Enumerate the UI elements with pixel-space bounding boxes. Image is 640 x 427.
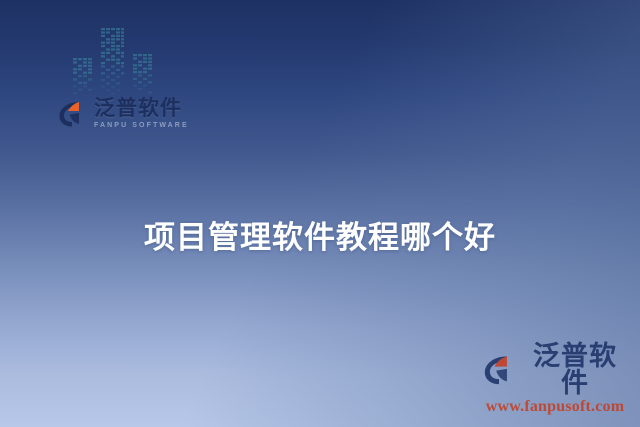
watermark: 泛普软件 www.fanpusoft.com [482,343,628,415]
brand-name-en: FANPU SOFTWARE [94,122,189,129]
promo-banner: 泛普软件 FANPU SOFTWARE 项目管理软件教程哪个好 泛普软件 www… [0,0,640,427]
page-title: 项目管理软件教程哪个好 [0,219,640,258]
brand-text-block: 泛普软件 FANPU SOFTWARE [94,98,189,129]
fanpu-logo-icon [57,99,87,129]
pixel-skyline-decoration [70,25,170,103]
brand-name-cn: 泛普软件 [94,98,189,119]
watermark-url: www.fanpusoft.com [482,399,628,415]
brand-lockup: 泛普软件 FANPU SOFTWARE [57,98,189,129]
watermark-logo-row: 泛普软件 [482,343,628,397]
fanpu-logo-icon [482,353,516,387]
skyline-icon [70,25,170,103]
watermark-name-cn: 泛普软件 [522,343,628,397]
